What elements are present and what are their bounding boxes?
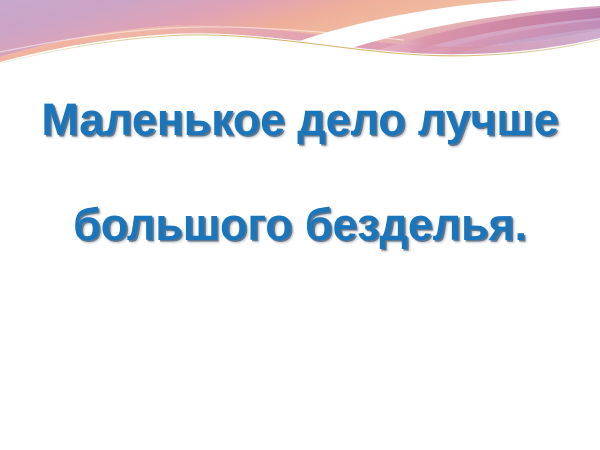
wave-lower-sliver xyxy=(0,25,600,62)
wave-white-swoosh-upper xyxy=(230,0,600,70)
slide-canvas: Маленькое дело лучше большого безделья. xyxy=(0,0,600,450)
quote-text-block: Маленькое дело лучше большого безделья. xyxy=(0,96,600,249)
wave-rose-streak xyxy=(350,8,600,64)
quote-line-2: большого безделья. xyxy=(0,201,600,250)
wave-rose-streak-secondary xyxy=(392,20,600,68)
wave-white-highlight xyxy=(0,27,404,52)
decorative-wave-banner xyxy=(0,0,600,70)
wave-white-base xyxy=(0,33,600,70)
wave-gold-hairline xyxy=(0,35,600,64)
wave-base-shape xyxy=(0,0,600,57)
wave-banner-graphic xyxy=(0,0,600,70)
quote-line-1: Маленькое дело лучше xyxy=(0,96,600,145)
